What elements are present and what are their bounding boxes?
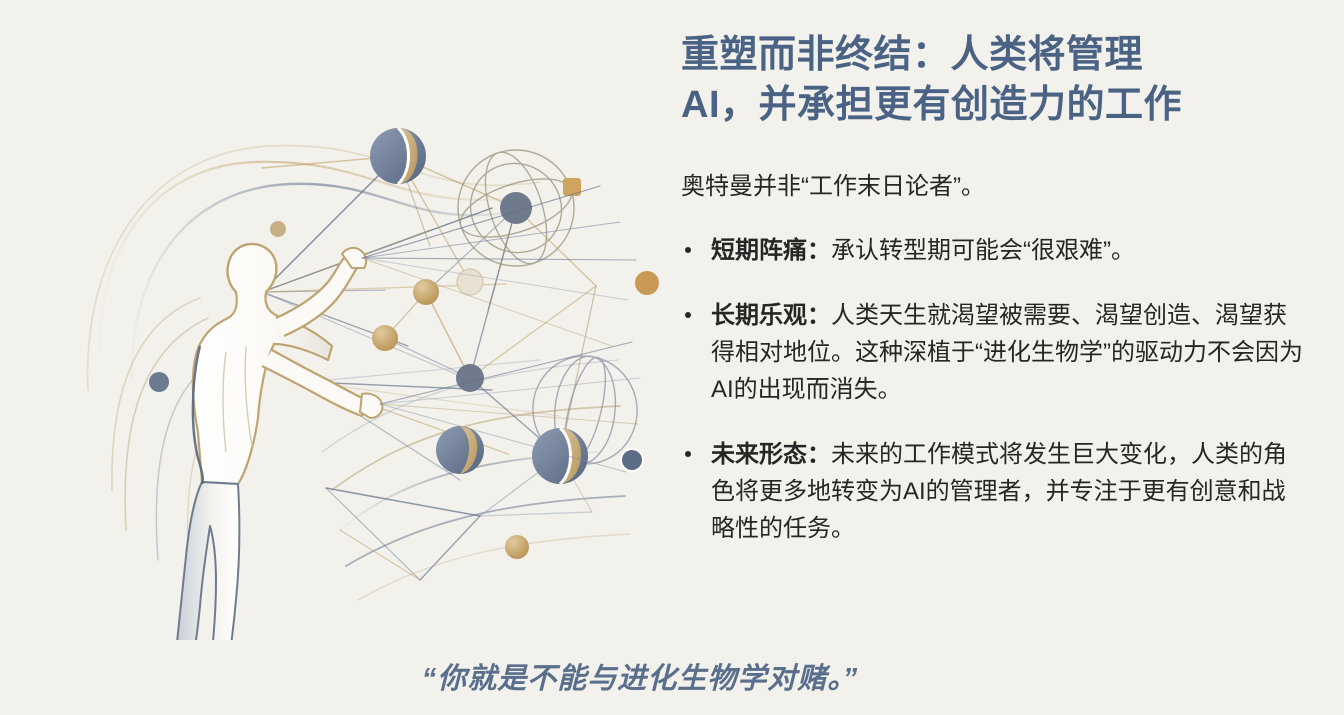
flow-ribbons — [88, 146, 630, 600]
bullet-lead: 未来形态： — [711, 441, 831, 468]
list-item: 短期阵痛：承认转型期可能会“很艰难”。 — [681, 232, 1306, 269]
footer-quote: “你就是不能与进化生物学对赌。” — [0, 655, 1312, 697]
node-square-gold — [563, 178, 581, 196]
bullet-body: 承认转型期可能会“很艰难”。 — [831, 237, 1135, 264]
slide-root: 重塑而非终结：人类将管理 AI，并承担更有创造力的工作 奥特曼并非“工作末日论者… — [0, 0, 1344, 715]
node-pale-small — [457, 269, 483, 295]
conductor-neural-network-illustration — [40, 60, 660, 640]
node-gold-mid-b — [372, 325, 398, 351]
bullet-dot-icon — [685, 247, 691, 253]
figure-arm-upper — [276, 258, 358, 336]
node-gold-mid-a — [413, 279, 439, 305]
bullet-lead: 长期乐观： — [711, 302, 831, 329]
intro-paragraph: 奥特曼并非“工作末日论者”。 — [681, 130, 1306, 204]
figure-hand-lower — [360, 393, 382, 418]
figure-torso — [193, 244, 332, 484]
figure-arm-lower — [262, 350, 366, 416]
list-item: 长期乐观：人类天生就渴望被需要、渴望创造、渴望获得相对地位。这种深植于“进化生物… — [681, 297, 1306, 408]
list-item: 未来形态：未来的工作模式将发生巨大变化，人类的角色将更多地转变为AI的管理者，并… — [681, 436, 1306, 547]
bullet-list: 短期阵痛：承认转型期可能会“很艰难”。 长期乐观：人类天生就渴望被需要、渴望创造… — [681, 232, 1306, 547]
node-gold-bottom — [505, 535, 529, 559]
node-slate-small-right — [621, 449, 643, 471]
node-large-lower — [532, 428, 588, 484]
figure-legs — [176, 482, 239, 640]
node-large-upper-left — [370, 128, 426, 184]
node-slate-left-small — [149, 372, 169, 392]
content-column: 重塑而非终结：人类将管理 AI，并承担更有创造力的工作 奥特曼并非“工作末日论者… — [681, 30, 1306, 547]
bullet-lead: 短期阵痛： — [711, 237, 831, 264]
node-slate-mid — [456, 364, 484, 392]
page-title: 重塑而非终结：人类将管理 AI，并承担更有创造力的工作 — [681, 30, 1306, 130]
baton-beams — [362, 186, 640, 472]
bullet-dot-icon — [685, 312, 691, 318]
node-gold-right — [635, 271, 659, 295]
node-large-lower-left — [436, 426, 484, 474]
node-gold-top-small — [270, 221, 286, 237]
bullet-dot-icon — [685, 451, 691, 457]
